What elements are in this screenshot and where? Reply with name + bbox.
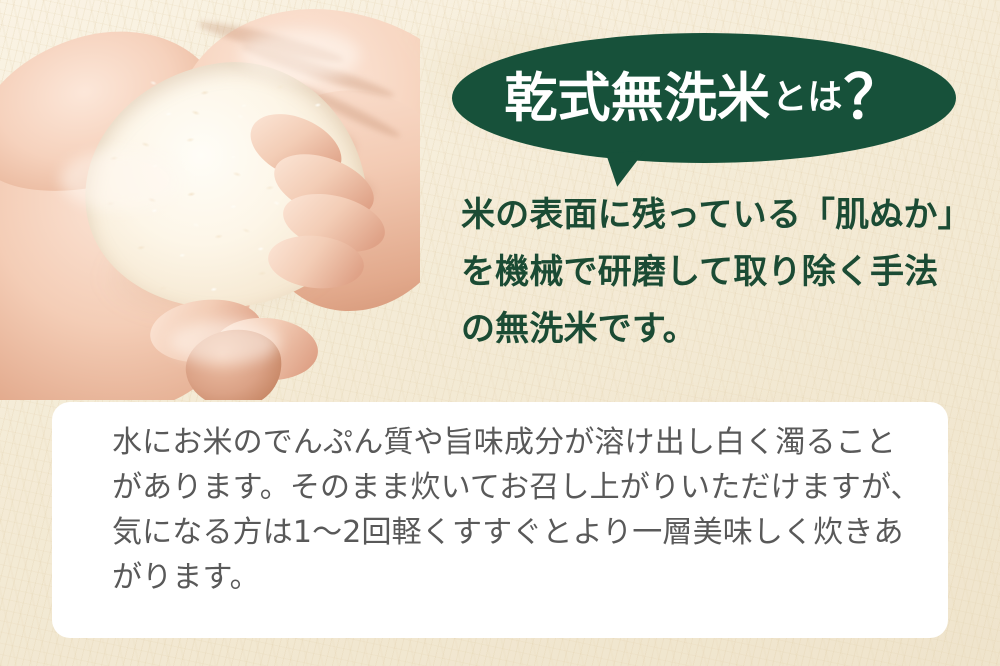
skin-highlight — [60, 150, 180, 210]
skin-highlight — [240, 30, 360, 80]
note-line: がります。 — [112, 555, 932, 600]
description-line: の無洗米です。 — [461, 301, 981, 358]
title-sub-text: とは — [772, 81, 842, 116]
note-line: があります。そのまま炊いてお召し上がりいただけますが、 — [112, 465, 932, 510]
note-line: 気になる方は1〜2回軽くすすぐとより一層美味しく炊きあ — [112, 510, 932, 555]
skin-highlight — [170, 320, 280, 364]
description-line: を機械で研磨して取り除く手法 — [461, 244, 981, 301]
speech-bubble-title: 乾式無洗米 とは ？ — [452, 33, 956, 163]
hands-holding-rice-photo — [0, 0, 420, 400]
description-line: 米の表面に残っている「肌ぬか」 — [461, 187, 981, 244]
photo-fade-mask — [0, 0, 420, 400]
title-question-mark: ？ — [843, 68, 903, 128]
title-main-text: 乾式無洗米 — [504, 72, 770, 125]
note-line: 水にお米のでんぷん質や旨味成分が溶け出し白く濁ること — [112, 420, 932, 465]
infographic-banner: 乾式無洗米 とは ？ 米の表面に残っている「肌ぬか」 を機械で研磨して取り除く手… — [0, 0, 1000, 666]
note-card-text: 水にお米のでんぷん質や旨味成分が溶け出し白く濁ること があります。そのまま炊いて… — [112, 420, 932, 600]
description-text: 米の表面に残っている「肌ぬか」 を機械で研磨して取り除く手法 の無洗米です。 — [461, 187, 981, 358]
